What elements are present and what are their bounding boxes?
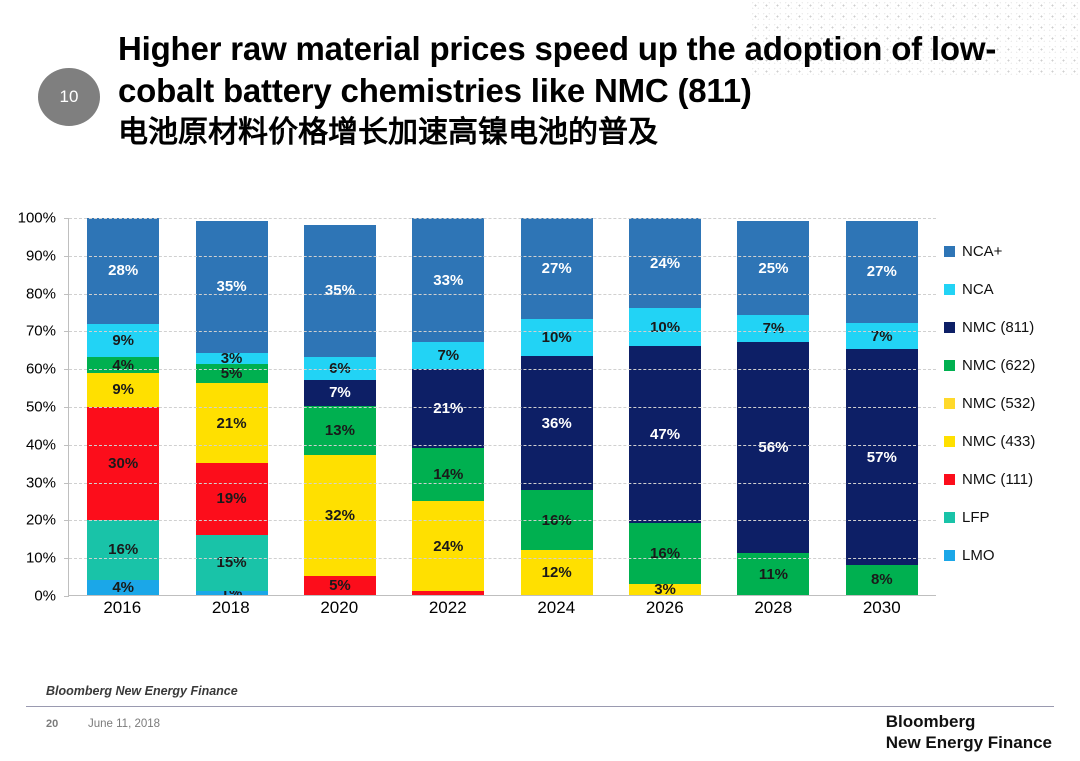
bar-segment[interactable]: 13% xyxy=(304,406,376,455)
slide-title-block: Higher raw material prices speed up the … xyxy=(118,28,998,152)
y-axis-tick-label: 80% xyxy=(26,285,56,302)
legend-swatch-icon xyxy=(944,398,955,409)
gridline xyxy=(69,445,936,446)
bar-segment[interactable]: 4% xyxy=(87,580,159,595)
bar-segment[interactable]: 12% xyxy=(521,550,593,595)
chart-legend: NCA+NCANMC (811)NMC (622)NMC (532)NMC (4… xyxy=(944,232,1080,574)
legend-swatch-icon xyxy=(944,284,955,295)
y-axis-tick-label: 60% xyxy=(26,361,56,378)
axis-tick-mark xyxy=(64,294,69,295)
bar-segment[interactable]: 16% xyxy=(87,520,159,580)
bar-segment[interactable]: 35% xyxy=(196,221,268,353)
bar-segment[interactable]: 7% xyxy=(412,342,484,368)
bar-segment[interactable]: 5% xyxy=(196,364,268,383)
x-axis-tick-label: 2024 xyxy=(520,598,592,618)
bar-segment[interactable]: 21% xyxy=(196,383,268,462)
legend-item[interactable]: NCA xyxy=(944,270,1080,308)
y-axis-tick-label: 30% xyxy=(26,474,56,491)
axis-tick-mark xyxy=(64,558,69,559)
legend-item[interactable]: NCA+ xyxy=(944,232,1080,270)
gridline xyxy=(69,558,936,559)
legend-swatch-icon xyxy=(944,474,955,485)
footer-date: June 11, 2018 xyxy=(88,718,160,730)
bar-segment[interactable]: 21% xyxy=(412,369,484,448)
legend-item-label: NCA xyxy=(962,281,994,298)
brand-line-2: New Energy Finance xyxy=(886,733,1052,754)
x-axis-tick-label: 2020 xyxy=(303,598,375,618)
legend-swatch-icon xyxy=(944,246,955,257)
bloomberg-logo: Bloomberg New Energy Finance xyxy=(886,712,1052,753)
bar-segment[interactable]: 14% xyxy=(412,448,484,501)
x-axis-tick-label: 2018 xyxy=(195,598,267,618)
y-axis-tick-label: 40% xyxy=(26,436,56,453)
legend-swatch-icon xyxy=(944,436,955,447)
legend-item[interactable]: LMO xyxy=(944,536,1080,574)
page-title-english: Higher raw material prices speed up the … xyxy=(118,28,998,112)
bar-segment[interactable]: 36% xyxy=(521,356,593,490)
legend-item[interactable]: NMC (433) xyxy=(944,422,1080,460)
axis-tick-mark xyxy=(64,596,69,597)
bar-segment[interactable]: 57% xyxy=(846,349,918,564)
bar-segment[interactable]: 9% xyxy=(87,373,159,407)
bar-segment[interactable] xyxy=(412,591,484,595)
bar-segment[interactable]: 30% xyxy=(87,407,159,520)
x-axis-tick-label: 2026 xyxy=(629,598,701,618)
legend-swatch-icon xyxy=(944,360,955,371)
bar-segment[interactable]: 28% xyxy=(87,218,159,324)
legend-item-label: NCA+ xyxy=(962,243,1002,260)
legend-item[interactable]: LFP xyxy=(944,498,1080,536)
bar-segment[interactable]: 10% xyxy=(521,319,593,356)
gridline xyxy=(69,520,936,521)
bar-segment[interactable]: 11% xyxy=(737,553,809,595)
y-axis-tick-label: 20% xyxy=(26,512,56,529)
axis-tick-mark xyxy=(64,483,69,484)
legend-item-label: NMC (532) xyxy=(962,395,1035,412)
bar-segment[interactable]: 7% xyxy=(737,315,809,341)
axis-tick-mark xyxy=(64,218,69,219)
axis-tick-mark xyxy=(64,445,69,446)
gridline xyxy=(69,331,936,332)
bar-segment[interactable]: 19% xyxy=(196,463,268,535)
gridline xyxy=(69,256,936,257)
y-axis-tick-label: 90% xyxy=(26,247,56,264)
brand-line-1: Bloomberg xyxy=(886,712,1052,733)
y-axis: 100%90%80%70%60%50%40%30%20%10%0% xyxy=(0,218,62,596)
slide-number-badge: 10 xyxy=(38,68,100,126)
footer-divider xyxy=(26,706,1054,707)
footer-page-number: 20 xyxy=(46,718,58,730)
y-axis-tick-label: 50% xyxy=(26,399,56,416)
legend-item-label: NMC (433) xyxy=(962,433,1035,450)
gridline xyxy=(69,369,936,370)
bar-segment[interactable]: 7% xyxy=(846,323,918,349)
gridline xyxy=(69,218,936,219)
bar-segment[interactable]: 16% xyxy=(629,523,701,583)
x-axis-tick-label: 2028 xyxy=(737,598,809,618)
x-axis-tick-label: 2016 xyxy=(86,598,158,618)
x-axis-tick-label: 2030 xyxy=(846,598,918,618)
y-axis-tick-label: 100% xyxy=(18,210,56,227)
bar-segment[interactable]: 47% xyxy=(629,346,701,523)
bar-segment[interactable]: 15% xyxy=(196,535,268,592)
stacked-bar-chart: 100%90%80%70%60%50%40%30%20%10%0% 28%9%4… xyxy=(0,218,1080,638)
bar-segment[interactable]: 56% xyxy=(737,342,809,554)
legend-item-label: NMC (811) xyxy=(962,319,1034,336)
legend-item-label: NMC (622) xyxy=(962,357,1035,374)
x-axis-tick-label: 2022 xyxy=(412,598,484,618)
bar-segment[interactable]: 1% xyxy=(196,591,268,595)
gridline xyxy=(69,294,936,295)
bar-segment[interactable]: 10% xyxy=(629,308,701,346)
bar-segment[interactable]: 3% xyxy=(196,353,268,364)
bar-segment[interactable]: 8% xyxy=(846,565,918,595)
legend-swatch-icon xyxy=(944,322,955,333)
bar-segment[interactable]: 35% xyxy=(304,225,376,357)
legend-item-label: NMC (111) xyxy=(962,471,1033,488)
legend-item[interactable]: NMC (622) xyxy=(944,346,1080,384)
axis-tick-mark xyxy=(64,331,69,332)
axis-tick-mark xyxy=(64,369,69,370)
bar-segment[interactable]: 7% xyxy=(304,380,376,406)
legend-item[interactable]: NMC (532) xyxy=(944,384,1080,422)
y-axis-tick-label: 70% xyxy=(26,323,56,340)
bar-segment[interactable]: 33% xyxy=(412,218,484,342)
axis-tick-mark xyxy=(64,256,69,257)
bar-segment[interactable]: 27% xyxy=(521,218,593,319)
axis-tick-mark xyxy=(64,520,69,521)
axis-tick-mark xyxy=(64,407,69,408)
bar-segment[interactable]: 3% xyxy=(629,584,701,595)
y-axis-tick-label: 10% xyxy=(26,550,56,567)
gridline xyxy=(69,483,936,484)
bar-segment[interactable]: 25% xyxy=(737,221,809,316)
bar-segment[interactable]: 5% xyxy=(304,576,376,595)
gridline xyxy=(69,407,936,408)
bar-segment[interactable]: 9% xyxy=(87,324,159,358)
legend-swatch-icon xyxy=(944,550,955,561)
legend-item-label: LMO xyxy=(962,547,995,564)
bar-segment[interactable]: 24% xyxy=(412,501,484,591)
legend-item[interactable]: NMC (811) xyxy=(944,308,1080,346)
y-axis-tick-label: 0% xyxy=(34,588,56,605)
bar-segment[interactable]: 4% xyxy=(87,357,159,372)
x-axis: 20162018202020222024202620282030 xyxy=(68,598,936,618)
legend-item[interactable]: NMC (111) xyxy=(944,460,1080,498)
page-title-chinese: 电池原材料价格增长加速高镍电池的普及 xyxy=(118,114,998,152)
chart-source-label: Bloomberg New Energy Finance xyxy=(46,684,238,698)
legend-item-label: LFP xyxy=(962,509,990,526)
plot-area: 28%9%4%9%30%16%4%35%3%5%21%19%15%1%35%6%… xyxy=(68,218,936,596)
legend-swatch-icon xyxy=(944,512,955,523)
bar-segment[interactable]: 24% xyxy=(629,218,701,308)
bar-segment[interactable]: 27% xyxy=(846,221,918,323)
